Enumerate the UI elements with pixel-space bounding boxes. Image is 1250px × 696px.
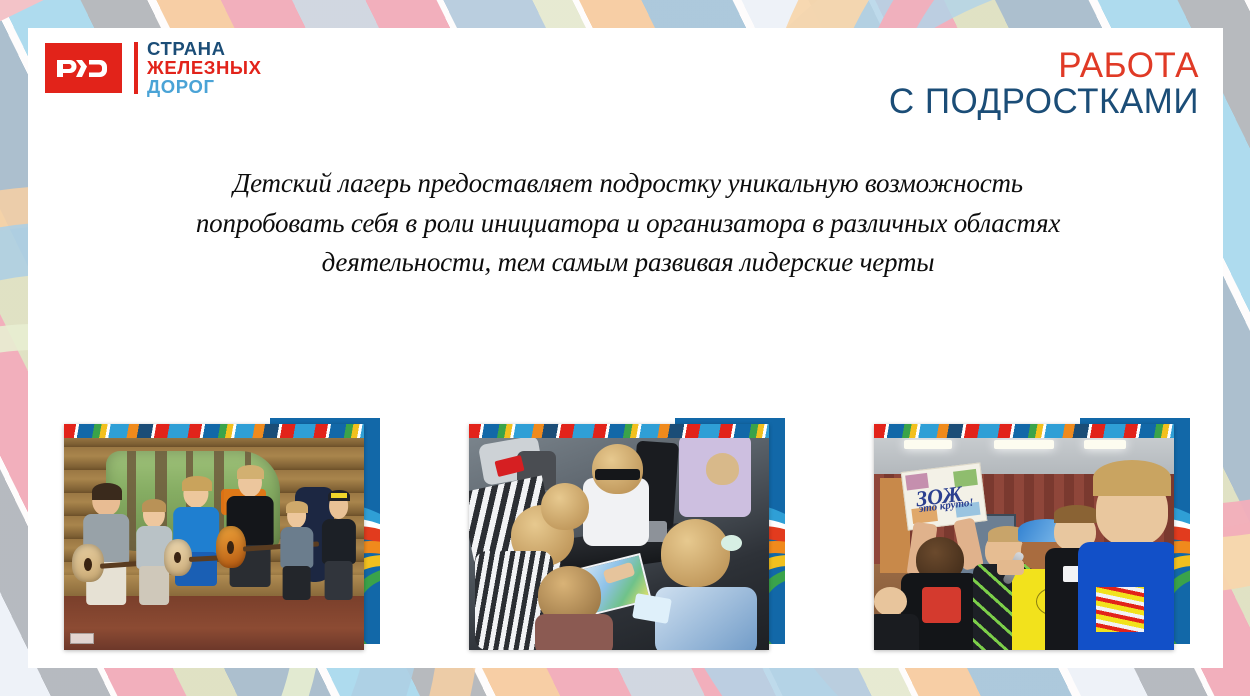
photo-poster: ЗОЖ это круто!: [901, 462, 988, 530]
photo-card-presentation[interactable]: ЗОЖ это круто!: [874, 424, 1174, 650]
photo-watermark: [70, 633, 94, 644]
photo-gallery: ЗОЖ это круто!: [28, 28, 1223, 668]
photo-guitars[interactable]: [64, 424, 364, 650]
content-card: СТРАНА ЖЕЛЕЗНЫХ ДОРОГ РАБОТА С ПОДРОСТКА…: [28, 28, 1223, 668]
photo-color-band: [64, 424, 364, 438]
photo-color-band: [874, 424, 1174, 438]
photo-presentation[interactable]: ЗОЖ это круто!: [874, 424, 1174, 650]
photo-card-guitars[interactable]: [64, 424, 364, 650]
photo-color-band: [469, 424, 769, 438]
photo-workshop-image: [469, 424, 769, 650]
photo-card-workshop[interactable]: [469, 424, 769, 650]
photo-presentation-image: ЗОЖ это круто!: [874, 424, 1174, 650]
photo-guitars-image: [64, 424, 364, 650]
slide-root: СТРАНА ЖЕЛЕЗНЫХ ДОРОГ РАБОТА С ПОДРОСТКА…: [0, 0, 1250, 696]
photo-workshop[interactable]: [469, 424, 769, 650]
